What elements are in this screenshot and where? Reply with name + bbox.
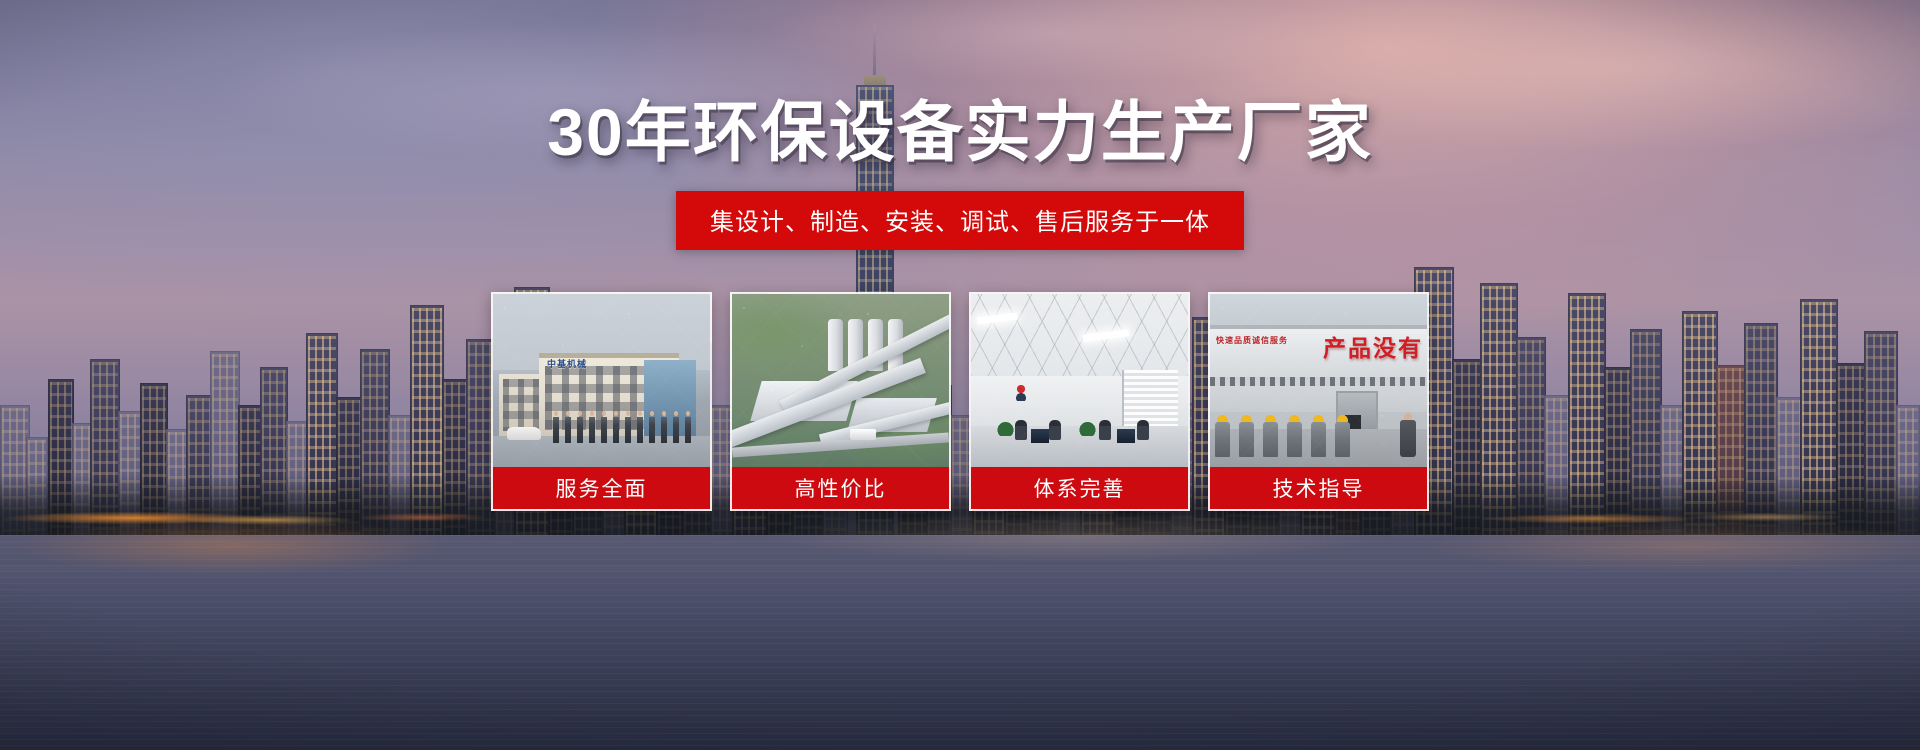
feature-card[interactable]: 高性价比 — [730, 292, 951, 511]
feature-card[interactable]: 快速品质 诚信服务 产品没有 — [1208, 292, 1429, 511]
factory-workers-photo: 快速品质 诚信服务 产品没有 — [1208, 292, 1429, 467]
feature-card[interactable]: 中基机械 服务全面 — [491, 292, 712, 511]
banner-subtitle-ribbon: 集设计、制造、安装、调试、售后服务于一体 — [676, 191, 1244, 250]
factory-wall-slogan: 快速品质 — [1216, 336, 1252, 345]
feature-card[interactable]: 体系完善 — [969, 292, 1190, 511]
office-interior-photo — [969, 292, 1190, 467]
factory-wall-sign: 产品没有 — [1323, 329, 1423, 363]
aerial-industrial-plant-photo — [730, 292, 951, 467]
feature-card-label: 技术指导 — [1208, 467, 1429, 511]
banner-headline: 30年环保设备实力生产厂家 — [547, 98, 1372, 167]
building-sign-label: 中基机械 — [547, 357, 587, 370]
banner-content: 30年环保设备实力生产厂家 集设计、制造、安装、调试、售后服务于一体 中基机械 — [0, 0, 1920, 750]
factory-wall-slogan: 诚信服务 — [1252, 336, 1288, 345]
hero-banner: 30年环保设备实力生产厂家 集设计、制造、安装、调试、售后服务于一体 中基机械 — [0, 0, 1920, 750]
office-building-staff-photo: 中基机械 — [491, 292, 712, 467]
feature-card-label: 体系完善 — [969, 467, 1190, 511]
feature-card-list: 中基机械 服务全面 — [491, 292, 1429, 511]
feature-card-label: 服务全面 — [491, 467, 712, 511]
feature-card-label: 高性价比 — [730, 467, 951, 511]
